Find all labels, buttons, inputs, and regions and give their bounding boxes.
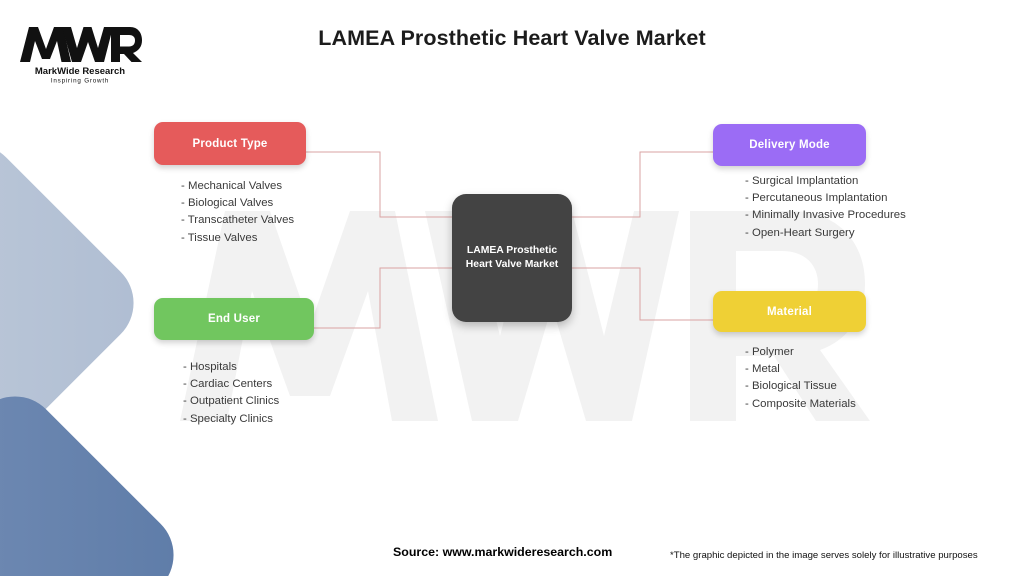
category-label-product-type: Product Type	[192, 138, 267, 150]
list-item: - Outpatient Clinics	[183, 393, 279, 410]
list-item: - Biological Valves	[181, 195, 294, 212]
list-item: - Mechanical Valves	[181, 178, 294, 195]
list-item: - Open-Heart Surgery	[745, 225, 906, 242]
list-item: - Specialty Clinics	[183, 411, 279, 428]
infographic-canvas: MarkWide Research Inspiring Growth LAMEA…	[0, 0, 1024, 576]
category-box-product-type[interactable]: Product Type	[154, 122, 306, 165]
deco-shape-light	[0, 126, 152, 480]
category-list-material: - Polymer - Metal - Biological Tissue - …	[745, 344, 856, 413]
category-list-end-user: - Hospitals - Cardiac Centers - Outpatie…	[183, 359, 279, 428]
connector-end-user	[314, 268, 452, 328]
deco-shape-dark	[0, 378, 192, 576]
category-label-delivery-mode: Delivery Mode	[749, 139, 830, 151]
list-item: - Composite Materials	[745, 396, 856, 413]
category-label-material: Material	[767, 306, 812, 318]
page-title: LAMEA Prosthetic Heart Valve Market	[0, 26, 1024, 51]
category-list-product-type: - Mechanical Valves - Biological Valves …	[181, 178, 294, 247]
logo-company-name: MarkWide Research	[35, 66, 125, 77]
connector-delivery-mode	[572, 152, 713, 217]
category-box-end-user[interactable]: End User	[154, 298, 314, 340]
logo-tagline: Inspiring Growth	[51, 78, 109, 85]
connector-material	[572, 268, 713, 320]
connector-product-type	[306, 152, 452, 217]
list-item: - Transcatheter Valves	[181, 212, 294, 229]
list-item: - Hospitals	[183, 359, 279, 376]
list-item: - Polymer	[745, 344, 856, 361]
list-item: - Cardiac Centers	[183, 376, 279, 393]
center-node-line1: LAMEA Prosthetic	[467, 245, 557, 256]
center-node: LAMEA Prosthetic Heart Valve Market	[452, 194, 572, 322]
list-item: - Metal	[745, 361, 856, 378]
list-item: - Minimally Invasive Procedures	[745, 207, 906, 224]
category-list-delivery-mode: - Surgical Implantation - Percutaneous I…	[745, 173, 906, 242]
category-box-delivery-mode[interactable]: Delivery Mode	[713, 124, 866, 166]
list-item: - Tissue Valves	[181, 230, 294, 247]
center-node-line2: Heart Valve Market	[466, 259, 558, 270]
list-item: - Biological Tissue	[745, 378, 856, 395]
list-item: - Percutaneous Implantation	[745, 190, 906, 207]
category-label-end-user: End User	[208, 313, 260, 325]
category-box-material[interactable]: Material	[713, 291, 866, 332]
disclaimer-note: *The graphic depicted in the image serve…	[670, 550, 978, 561]
source-attribution: Source: www.markwideresearch.com	[393, 545, 612, 559]
list-item: - Surgical Implantation	[745, 173, 906, 190]
